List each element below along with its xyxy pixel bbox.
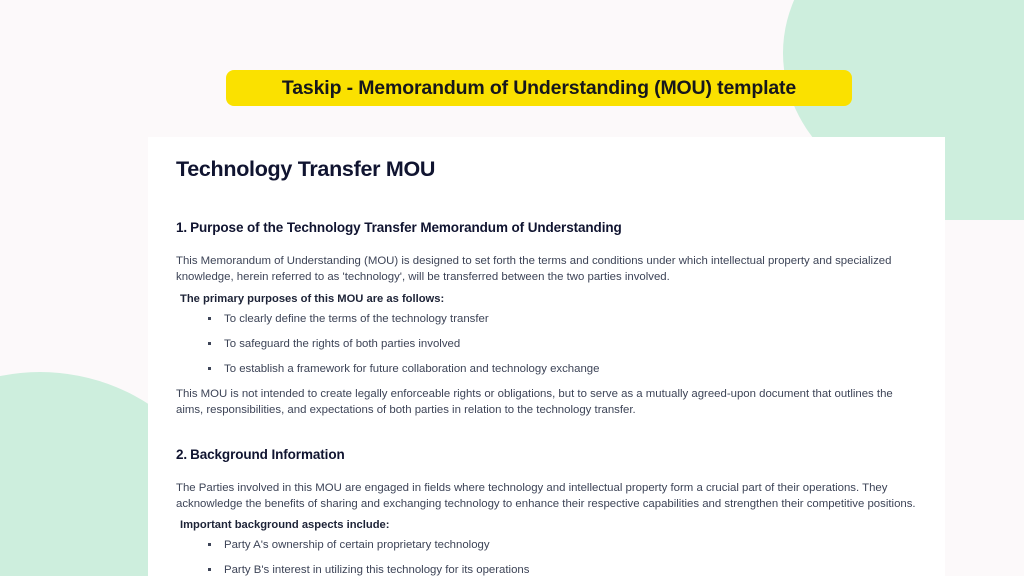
list-item: Party B's interest in utilizing this tec…	[176, 562, 917, 576]
section-1-heading-text: Purpose of the Technology Transfer Memor…	[190, 220, 622, 235]
section-2-number: 2.	[176, 447, 187, 462]
section-1-lead-in: The primary purposes of this MOU are as …	[180, 293, 917, 305]
document-section-1: 1.Purpose of the Technology Transfer Mem…	[176, 220, 917, 419]
section-2-lead-in: Important background aspects include:	[180, 519, 917, 531]
document-section-2: 2.Background Information The Parties inv…	[176, 447, 917, 576]
mint-block-top-right	[945, 0, 1024, 220]
section-1-heading: 1.Purpose of the Technology Transfer Mem…	[176, 220, 917, 235]
title-banner-text: Taskip - Memorandum of Understanding (MO…	[282, 77, 796, 100]
document-card: Technology Transfer MOU 1.Purpose of the…	[148, 137, 945, 576]
section-1-number: 1.	[176, 220, 187, 235]
section-2-paragraph-1: The Parties involved in this MOU are eng…	[176, 480, 917, 513]
title-banner: Taskip - Memorandum of Understanding (MO…	[226, 70, 852, 106]
section-1-paragraph-2: This MOU is not intended to create legal…	[176, 386, 917, 419]
list-item: To establish a framework for future coll…	[176, 361, 917, 377]
section-2-heading: 2.Background Information	[176, 447, 917, 462]
section-1-bullet-list: To clearly define the terms of the techn…	[176, 311, 917, 377]
list-item: To clearly define the terms of the techn…	[176, 311, 917, 327]
document-title: Technology Transfer MOU	[176, 157, 917, 182]
section-2-bullet-list: Party A's ownership of certain proprieta…	[176, 537, 917, 576]
list-item: To safeguard the rights of both parties …	[176, 336, 917, 352]
section-1-paragraph-1: This Memorandum of Understanding (MOU) i…	[176, 253, 917, 286]
list-item: Party A's ownership of certain proprieta…	[176, 537, 917, 553]
section-2-heading-text: Background Information	[190, 447, 345, 462]
